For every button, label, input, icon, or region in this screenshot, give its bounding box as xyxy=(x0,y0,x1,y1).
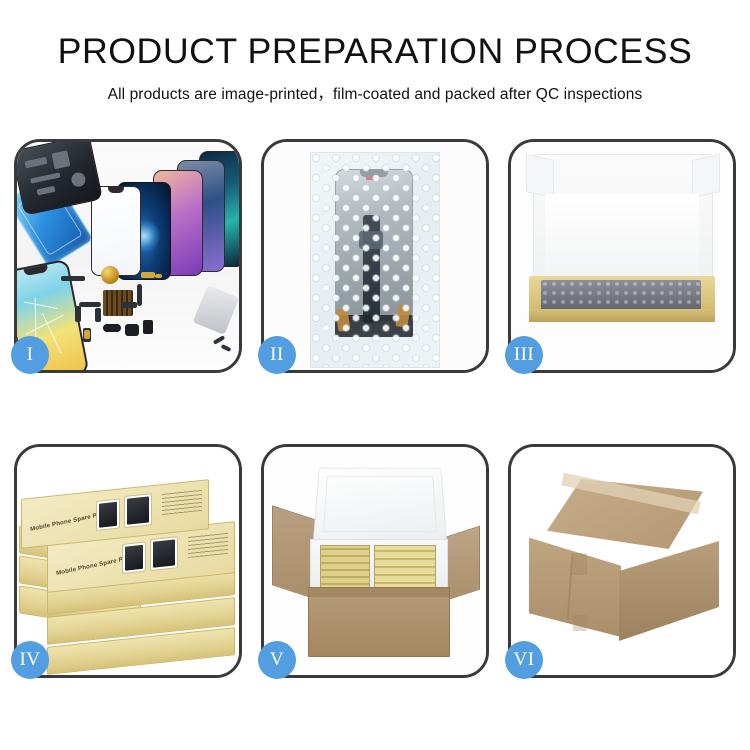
infographic-page: PRODUCT PREPARATION PROCESS All products… xyxy=(0,0,750,750)
step-panel-2[interactable]: II xyxy=(261,139,489,373)
step-badge-6: VI xyxy=(505,641,543,679)
steps-grid: I xyxy=(14,139,736,684)
step-6-image xyxy=(511,447,733,675)
bubble-wrap-bag-icon xyxy=(310,152,440,368)
step-5-image xyxy=(264,447,486,675)
white-foam-pad-icon xyxy=(545,194,699,284)
yellow-box-stacks xyxy=(320,545,436,589)
gold-coil-icon xyxy=(101,266,119,284)
bubble-wrapped-unit-icon xyxy=(541,280,701,310)
tempered-glass-icon xyxy=(91,186,141,276)
sealed-carton-icon xyxy=(529,479,719,639)
step-badge-5: V xyxy=(258,641,296,679)
carton-body-icon xyxy=(308,587,450,657)
step-badge-1: I xyxy=(11,336,49,374)
kraft-tray-icon xyxy=(529,276,715,322)
styrofoam-lid-icon xyxy=(313,468,447,542)
yellow-box-stack-left xyxy=(320,545,370,591)
step-panel-4[interactable]: Mobile Phone Spare Parts Mobile Phone Sp… xyxy=(14,444,242,678)
step-badge-2: II xyxy=(258,336,296,374)
step-panel-1[interactable]: I xyxy=(14,139,242,373)
step-panel-3[interactable]: III xyxy=(508,139,736,373)
step-badge-4: IV xyxy=(11,641,49,679)
step-4-image: Mobile Phone Spare Parts Mobile Phone Sp… xyxy=(17,447,239,675)
retail-box-stack: Mobile Phone Spare Parts Mobile Phone Sp… xyxy=(19,473,237,659)
yellow-box-stack-right xyxy=(374,545,436,591)
page-subtitle: All products are image-printed，film-coat… xyxy=(0,82,750,104)
step-2-image xyxy=(264,142,486,370)
page-title: PRODUCT PREPARATION PROCESS xyxy=(0,34,750,69)
step-3-image xyxy=(511,142,733,370)
step-1-image xyxy=(17,142,239,370)
header: PRODUCT PREPARATION PROCESS All products… xyxy=(0,0,750,104)
step-panel-6[interactable]: VI xyxy=(508,444,736,678)
step-panel-5[interactable]: V xyxy=(261,444,489,678)
step-badge-3: III xyxy=(505,336,543,374)
